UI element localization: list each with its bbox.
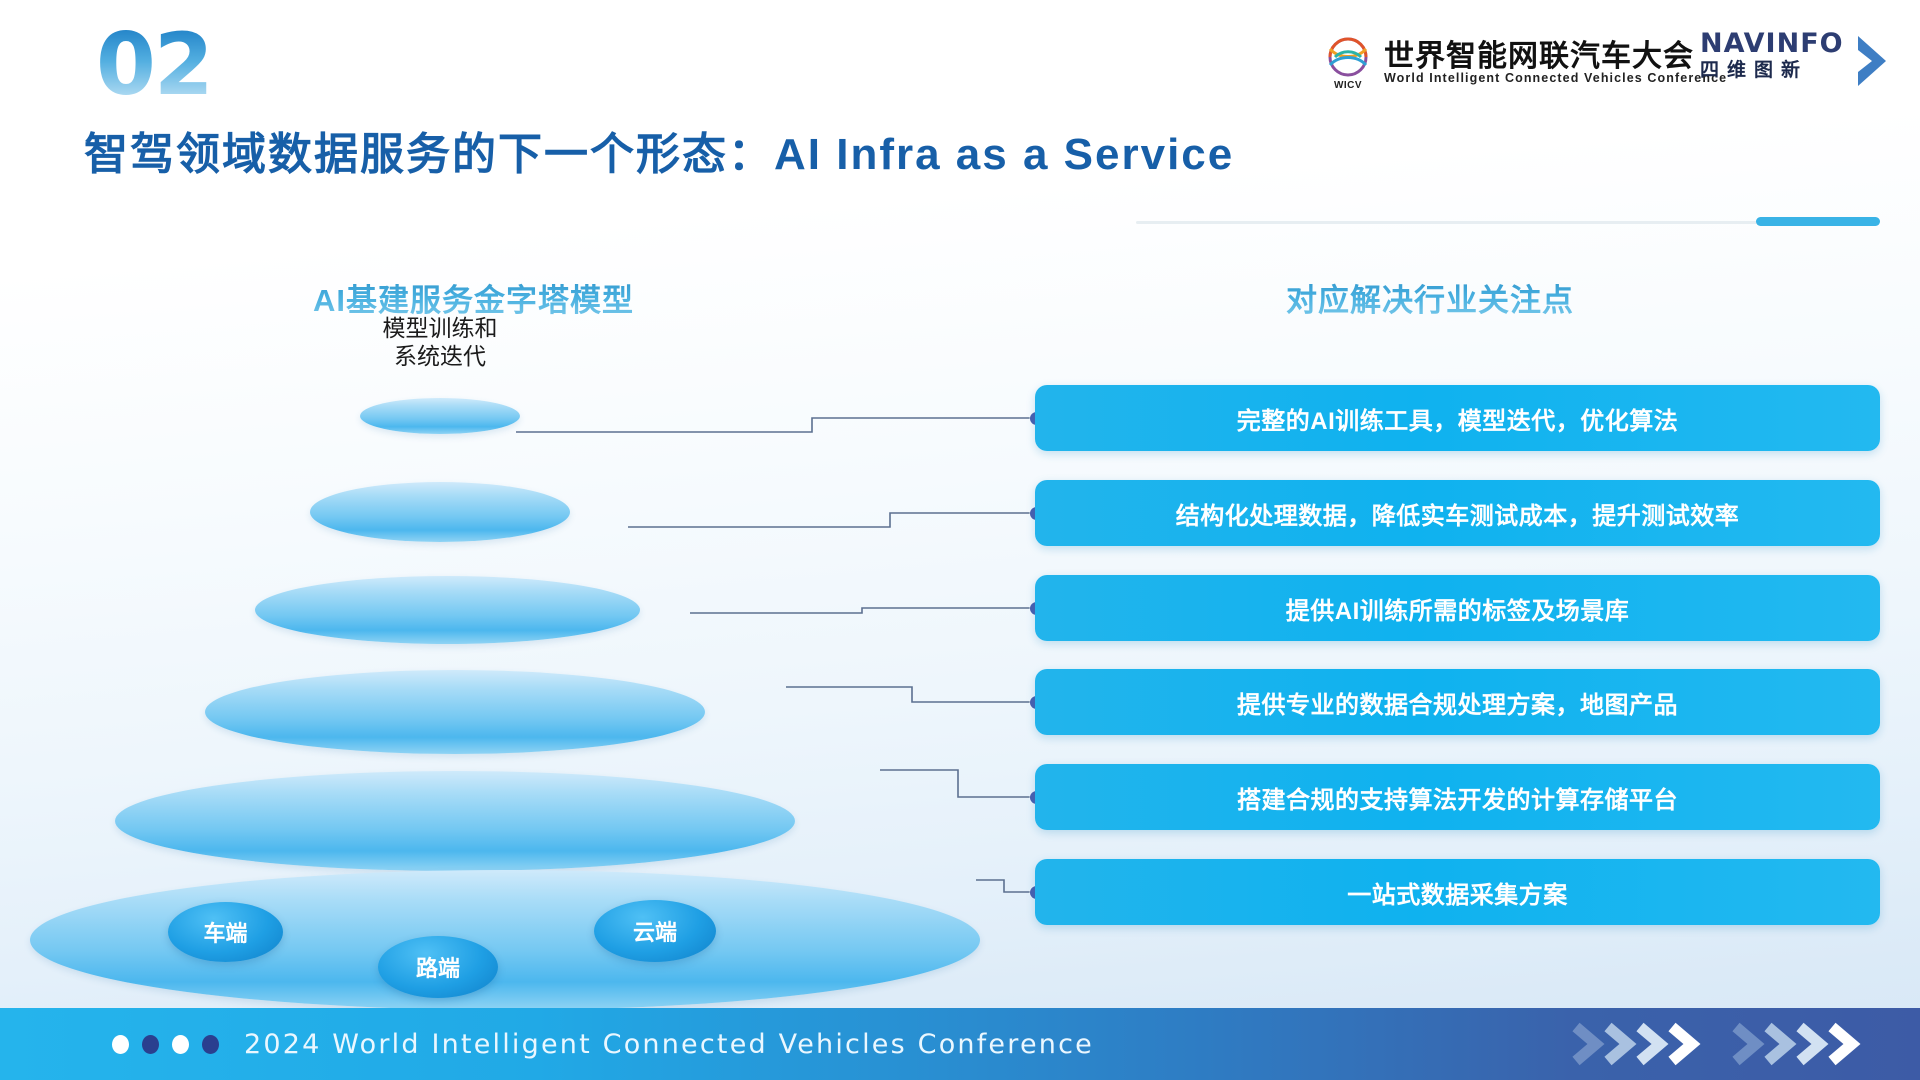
footer-dot-3 xyxy=(172,1035,189,1054)
solution-bar-6[interactable]: 一站式数据采集方案 xyxy=(1035,859,1880,925)
wicv-mark-icon: WICV xyxy=(1322,36,1374,90)
pyramid-ellipse xyxy=(310,482,570,542)
solution-bar-2[interactable]: 结构化处理数据，降低实车测试成本，提升测试效率 xyxy=(1035,480,1880,546)
footer-dots xyxy=(112,1035,219,1054)
footer-dot-1 xyxy=(112,1035,129,1054)
pyramid-badge-vehicle[interactable]: 车端 xyxy=(168,902,283,962)
solution-bar-5[interactable]: 搭建合规的支持算法开发的计算存储平台 xyxy=(1035,764,1880,830)
section-number: 02 xyxy=(96,22,212,108)
wicv-name-cn: 世界智能网联汽车大会 xyxy=(1384,41,1727,73)
navinfo-chevron-icon xyxy=(1852,34,1892,88)
pyramid-ellipse xyxy=(255,576,640,644)
footer-bar: 2024 World Intelligent Connected Vehicle… xyxy=(0,1008,1920,1080)
wicv-mark-label: WICV xyxy=(1322,80,1374,91)
footer-chevrons-right xyxy=(1730,1021,1880,1067)
footer-dot-4 xyxy=(202,1035,219,1054)
solution-bar-4[interactable]: 提供专业的数据合规处理方案，地图产品 xyxy=(1035,669,1880,735)
footer-dot-2 xyxy=(142,1035,159,1054)
slide-root: 02 智驾领域数据服务的下一个形态：AI Infra as a Service … xyxy=(0,0,1920,1080)
footer-text: 2024 World Intelligent Connected Vehicle… xyxy=(244,1029,1094,1060)
pyramid-badge-road[interactable]: 路端 xyxy=(378,936,498,998)
page-title: 智驾领域数据服务的下一个形态：AI Infra as a Service xyxy=(84,118,1234,182)
solution-bar-3[interactable]: 提供AI训练所需的标签及场景库 xyxy=(1035,575,1880,641)
pyramid-layer-label: 模型训练和 系统迭代 xyxy=(300,314,580,370)
pyramid-diagram: 模型训练和 系统迭代 场景库/仿真 数据标注 数据合规，地图 智驾云服务（计算+… xyxy=(0,330,1020,950)
pyramid-ellipse xyxy=(205,670,705,754)
wicv-logo: WICV 世界智能网联汽车大会 World Intelligent Connec… xyxy=(1322,36,1727,90)
pyramid-badge-cloud[interactable]: 云端 xyxy=(594,900,716,962)
footer-chevrons-left xyxy=(1570,1021,1720,1067)
right-column-heading: 对应解决行业关注点 xyxy=(1286,275,1574,320)
pyramid-ellipse xyxy=(115,771,795,871)
header-divider xyxy=(1136,221,1836,224)
header-divider-accent xyxy=(1756,217,1880,226)
solution-bar-1[interactable]: 完整的AI训练工具，模型迭代，优化算法 xyxy=(1035,385,1880,451)
navinfo-logo: NAVINFO 四维图新 xyxy=(1700,30,1890,90)
wicv-name-en: World Intelligent Connected Vehicles Con… xyxy=(1384,72,1727,85)
pyramid-ellipse xyxy=(360,398,520,434)
